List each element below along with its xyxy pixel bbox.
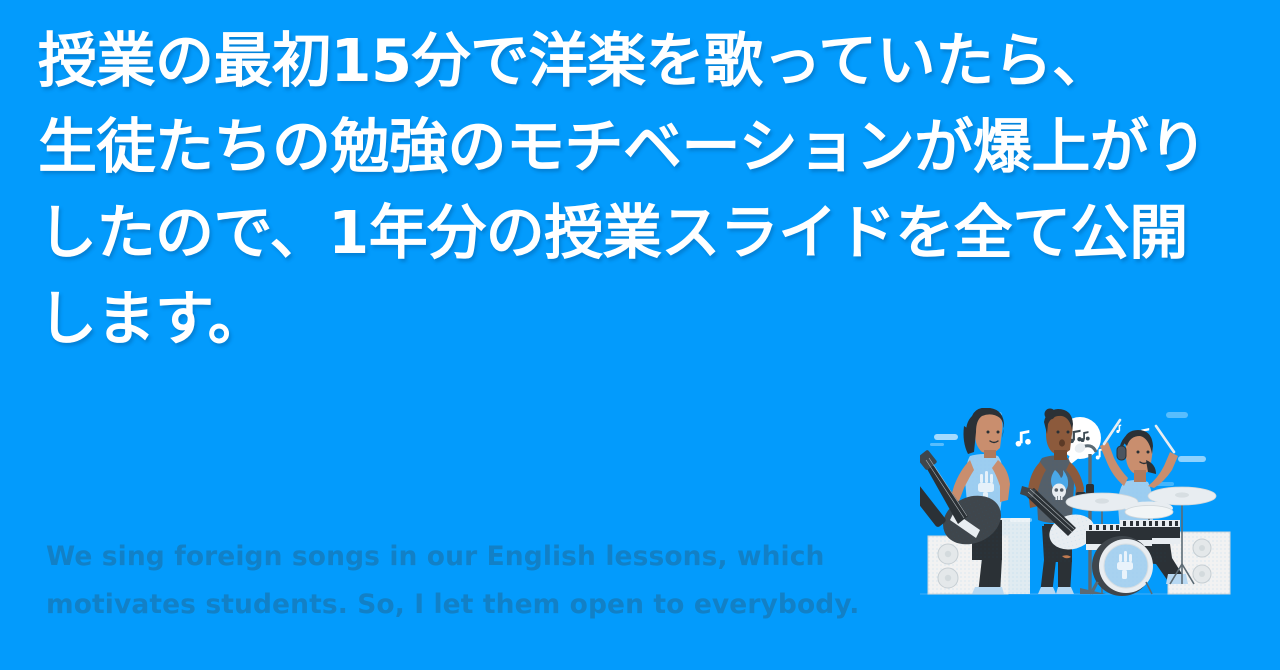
- hi-hat: [1125, 502, 1173, 519]
- floor-tom: [1152, 520, 1180, 544]
- article-header-banner: 授業の最初15分で洋楽を歌っていたら、 生徒たちの勉強のモチベーションが爆上がり…: [0, 0, 1280, 670]
- rock-band-illustration: [920, 408, 1250, 640]
- headline-line-4: します。: [38, 276, 1248, 362]
- page-title: 授業の最初15分で洋楽を歌っていたら、 生徒たちの勉強のモチベーションが爆上がり…: [38, 18, 1248, 362]
- page-subtitle: We sing foreign songs in our English les…: [46, 533, 926, 629]
- subtitle-line-1: We sing foreign songs in our English les…: [46, 533, 926, 581]
- headline-line-1: 授業の最初15分で洋楽を歌っていたら、: [38, 18, 1248, 104]
- music-note: [1016, 430, 1031, 447]
- headline-line-3: したので、1年分の授業スライドを全て公開: [38, 190, 1248, 276]
- subtitle-line-2: motivates students. So, I let them open …: [46, 581, 926, 629]
- headline-line-2: 生徒たちの勉強のモチベーションが爆上がり: [38, 104, 1248, 190]
